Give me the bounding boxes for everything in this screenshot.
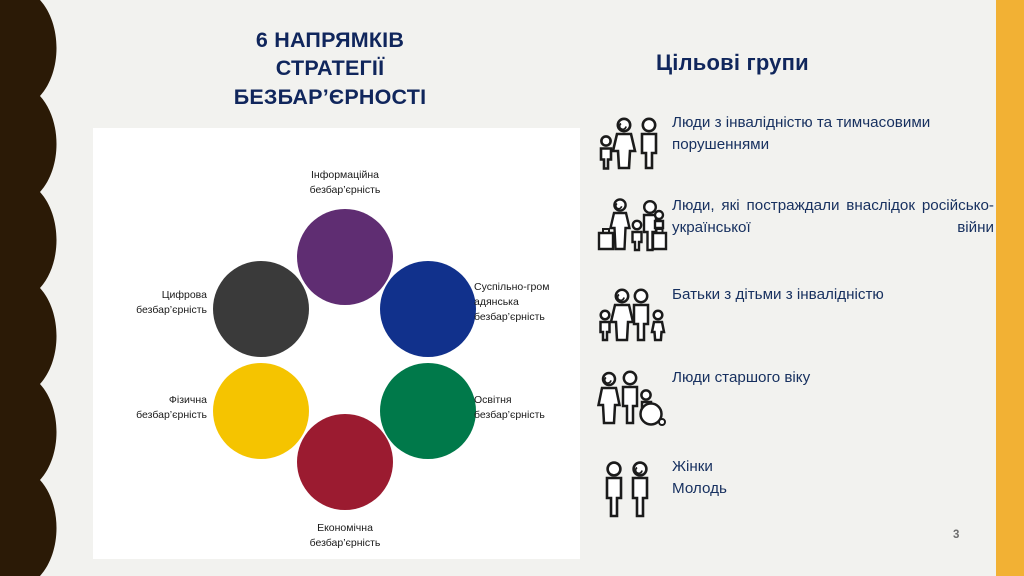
list-item: Люди, які постраждали внаслідок російськ… xyxy=(596,195,994,262)
circle-social-civic xyxy=(380,261,476,357)
scallop-wave-shape xyxy=(22,0,62,576)
list-item: Батьки з дітьми з інвалідністю xyxy=(596,284,994,342)
two-women-icon xyxy=(596,456,672,518)
circle-label-physical: Фізична безбар’єрність xyxy=(97,393,207,423)
list-item: Люди з інвалідністю та тимчасовими поруш… xyxy=(596,112,994,170)
slide-canvas: 6 НАПРЯМКІВ СТРАТЕГІЇ БЕЗБАР’ЄРНОСТІ Ціл… xyxy=(0,0,1024,576)
family-adult-woman-child-icon xyxy=(596,112,672,170)
list-item-label-line-1: Жінки xyxy=(672,456,994,478)
page-title-line-3: БЕЗБАР’ЄРНОСТІ xyxy=(160,83,500,111)
page-title: 6 НАПРЯМКІВ СТРАТЕГІЇ БЕЗБАР’ЄРНОСТІ xyxy=(160,26,500,111)
page-title-line-2: СТРАТЕГІЇ xyxy=(160,54,500,82)
refugees-with-luggage-icon xyxy=(596,195,672,253)
orange-edge-bar xyxy=(996,0,1024,576)
circle-label-informational: Інформаційна безбар’єрність xyxy=(265,168,425,198)
circle-digital xyxy=(213,261,309,357)
list-item-label-line-2: Молодь xyxy=(672,478,994,500)
page-number: 3 xyxy=(953,529,959,541)
circle-label-social-civic: Суспільно-гром адянська безбар’єрність xyxy=(474,280,580,325)
list-item-label: Люди, які постраждали внаслідок російськ… xyxy=(672,195,994,262)
circle-label-economic: Економічна безбар’єрність xyxy=(265,521,425,551)
circle-educational xyxy=(380,363,476,459)
list-item: Люди старшого віку xyxy=(596,367,994,429)
list-item: Жінки Молодь xyxy=(596,456,994,518)
circle-physical xyxy=(213,363,309,459)
list-item-label: Жінки Молодь xyxy=(672,456,994,500)
circle-economic xyxy=(297,414,393,510)
list-item-label: Батьки з дітьми з інвалідністю xyxy=(672,284,994,306)
target-groups-heading: Цільові групи xyxy=(656,50,809,76)
circle-informational xyxy=(297,209,393,305)
page-title-line-1: 6 НАПРЯМКІВ xyxy=(160,26,500,54)
strategy-directions-diagram: Інформаційна безбар’єрність Суспільно-гр… xyxy=(93,128,580,559)
list-item-label: Люди старшого віку xyxy=(672,367,994,389)
circle-label-digital: Цифрова безбар’єрність xyxy=(97,288,207,318)
circle-label-educational: Освітня безбар’єрність xyxy=(474,393,580,423)
parents-with-children-icon xyxy=(596,284,672,342)
elderly-with-wheelchair-icon xyxy=(596,367,672,429)
list-item-label: Люди з інвалідністю та тимчасовими поруш… xyxy=(672,112,994,156)
